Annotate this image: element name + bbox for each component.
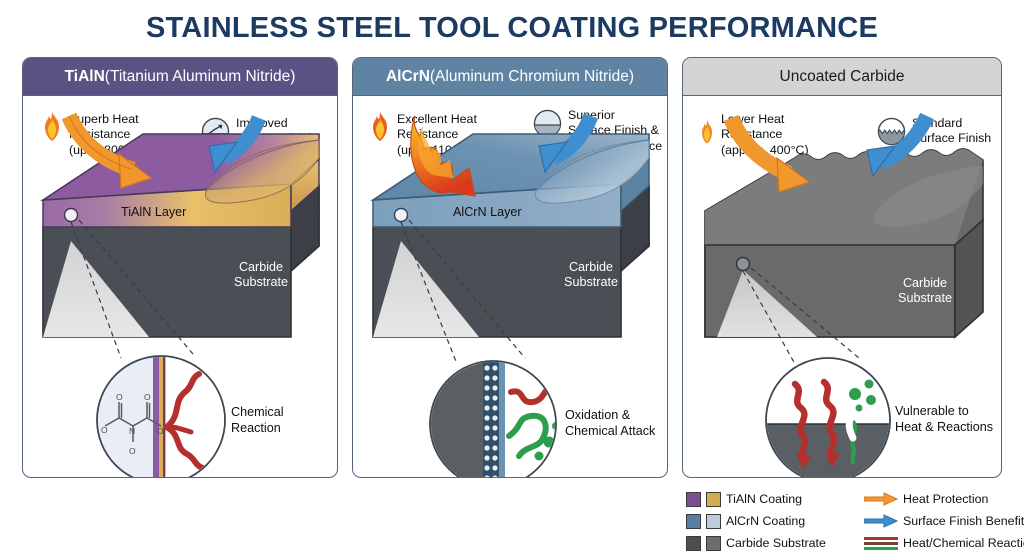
orange-arrow-icon bbox=[864, 491, 898, 507]
panel-alcrn: AlCrN (Aluminum Chromium Nitride) Excell… bbox=[352, 57, 668, 478]
panel-body-uncoated: Lower Heat Resistance (approx. 400°C) St… bbox=[683, 96, 1001, 478]
panel-header-abbr: Uncoated Carbide bbox=[780, 68, 905, 86]
svg-text:O: O bbox=[157, 426, 164, 436]
reaction-bars-icon bbox=[864, 536, 898, 550]
substrate-label-alcrn: Carbide Substrate bbox=[549, 260, 633, 291]
panel-body-tialn: Superb Heat Resistance (up to 800°C) Imp… bbox=[23, 96, 337, 478]
legend-label: AlCrN Coating bbox=[726, 514, 805, 528]
legend-item-tialn: TiAlN Coating bbox=[686, 488, 856, 510]
blue-arrow-icon bbox=[864, 513, 898, 529]
layer-label-alcrn: AlCrN Layer bbox=[453, 205, 522, 219]
panel-header-full: (Aluminum Chromium Nitride) bbox=[430, 68, 634, 86]
legend-item-carbide: Carbide Substrate bbox=[686, 532, 856, 554]
svg-text:O: O bbox=[116, 392, 123, 402]
panel-header-alcrn: AlCrN (Aluminum Chromium Nitride) bbox=[353, 58, 667, 96]
legend-item-alcrn: AlCrN Coating bbox=[686, 510, 856, 532]
legend-column-materials: TiAlN Coating AlCrN Coating Carbide Subs… bbox=[686, 488, 856, 554]
legend-label: Carbide Substrate bbox=[726, 536, 826, 550]
svg-text:O: O bbox=[101, 425, 108, 435]
panel-header-full: (Titanium Aluminum Nitride) bbox=[105, 68, 296, 86]
magnifier-label-uncoated: Vulnerable to Heat & Reactions bbox=[895, 404, 1002, 435]
substrate-label-tialn: Carbide Substrate bbox=[219, 260, 303, 291]
panel-body-alcrn: Excellent Heat Resistance (up to 1100°C)… bbox=[353, 96, 667, 478]
substrate-label-uncoated: Carbide Substrate bbox=[883, 276, 967, 307]
panel-tialn: TiAlN (Titanium Aluminum Nitride) Superb… bbox=[22, 57, 338, 478]
swatch-tialn-b bbox=[706, 492, 721, 507]
legend-item-surface-finish: Surface Finish Benefit bbox=[864, 510, 1024, 532]
magnifier-label-alcrn: Oxidation & Chemical Attack bbox=[565, 408, 668, 439]
swatch-carbide-a bbox=[686, 536, 701, 551]
magnifier-label-tialn: Chemical Reaction bbox=[231, 405, 331, 436]
panel-uncoated: Uncoated Carbide Lower Heat Resistance (… bbox=[682, 57, 1002, 478]
panel-header-abbr: AlCrN bbox=[386, 68, 430, 86]
svg-text:O: O bbox=[144, 392, 151, 402]
swatch-carbide-b bbox=[706, 536, 721, 551]
svg-text:O: O bbox=[129, 446, 136, 456]
legend-label: Heat Protection bbox=[903, 492, 988, 506]
panel-header-uncoated: Uncoated Carbide bbox=[683, 58, 1001, 96]
panel-header-abbr: TiAlN bbox=[65, 68, 105, 86]
swatch-alcrn-a bbox=[686, 514, 701, 529]
swatch-tialn-a bbox=[686, 492, 701, 507]
swatch-alcrn-b bbox=[706, 514, 721, 529]
svg-text:N: N bbox=[129, 426, 135, 436]
legend-label: Surface Finish Benefit bbox=[903, 514, 1024, 528]
legend-label: TiAlN Coating bbox=[726, 492, 802, 506]
legend-item-heat-protection: Heat Protection bbox=[864, 488, 1024, 510]
panel-header-tialn: TiAlN (Titanium Aluminum Nitride) bbox=[23, 58, 337, 96]
page-title: STAINLESS STEEL TOOL COATING PERFORMANCE bbox=[0, 12, 1024, 45]
legend: TiAlN Coating AlCrN Coating Carbide Subs… bbox=[686, 488, 1022, 554]
legend-item-reaction: Heat/Chemical Reaction bbox=[864, 532, 1024, 554]
legend-label: Heat/Chemical Reaction bbox=[903, 536, 1024, 550]
layer-label-tialn: TiAlN Layer bbox=[121, 205, 186, 219]
legend-column-effects: Heat Protection Surface Finish Benefit H… bbox=[864, 488, 1024, 554]
infographic-canvas: STAINLESS STEEL TOOL COATING PERFORMANCE… bbox=[0, 0, 1024, 559]
